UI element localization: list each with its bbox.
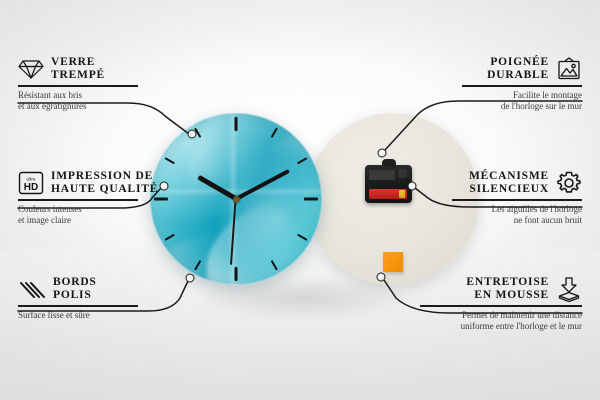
callout-rule	[420, 305, 582, 307]
callout-desc-line2: et aux égratignures	[18, 101, 138, 112]
mechanism-panel	[369, 170, 395, 180]
foam-spacer	[383, 252, 403, 272]
ultra-hd-icon: ultra HD	[18, 171, 44, 195]
callout-title-line2: SILENCIEUX	[469, 183, 549, 196]
leader-dot-left-1	[188, 130, 197, 139]
callout-title-line2: HAUTE QUALITÉ	[51, 183, 158, 196]
infographic-canvas: VERRE TREMPÉ Résistant aux bris et aux é…	[0, 0, 600, 400]
callout-header: MÉCANISME SILENCIEUX	[452, 170, 582, 196]
callout-poignee-durable: POIGNÉE DURABLE Facilite le montage de l…	[462, 56, 582, 112]
callout-rule	[18, 85, 138, 87]
callout-header: ultra HD IMPRESSION DE HAUTE QUALITÉ	[18, 170, 138, 196]
callout-title-line1: IMPRESSION DE	[51, 170, 158, 183]
mechanism-knob	[398, 169, 407, 178]
clock-rim	[150, 113, 322, 285]
leader-dot-right-2	[408, 182, 417, 191]
callout-title-line2: TREMPÉ	[51, 69, 105, 82]
leader-dot-left-2	[160, 182, 169, 191]
callout-header: ENTRETOISE EN MOUSSE	[420, 276, 582, 302]
callout-rule	[18, 305, 138, 307]
callout-header: BORDS POLIS	[18, 276, 138, 302]
polished-edges-icon	[18, 278, 46, 300]
callout-title-line1: BORDS	[53, 276, 97, 289]
callout-rule	[18, 199, 138, 201]
ultra-hd-big-label: HD	[24, 182, 38, 193]
callout-header: POIGNÉE DURABLE	[462, 56, 582, 82]
leader-dot-right-1	[378, 149, 387, 158]
battery-terminal	[399, 190, 405, 198]
callout-desc-line1: Couleurs intenses	[18, 204, 138, 215]
callout-desc-line2: uniforme entre l'horloge et le mur	[420, 321, 582, 332]
battery	[369, 189, 407, 199]
callout-title-line1: POIGNÉE	[487, 56, 549, 69]
callout-rule	[452, 199, 582, 201]
callout-bords-polis: BORDS POLIS Surface lisse et sûre	[18, 276, 138, 321]
callout-desc-line1: Permet de maintenir une distance	[420, 310, 582, 321]
callout-rule	[462, 85, 582, 87]
callout-title-line2: DURABLE	[487, 69, 549, 82]
callout-desc-line1: Facilite le montage	[462, 90, 582, 101]
diamond-icon	[18, 58, 44, 80]
picture-frame-hanger-icon	[556, 57, 582, 81]
callout-title-line2: POLIS	[53, 289, 97, 302]
leader-dot-right-3	[377, 273, 386, 282]
callout-title-line2: EN MOUSSE	[466, 289, 549, 302]
mechanism-hanger-tab	[382, 159, 396, 167]
callout-title-line1: MÉCANISME	[469, 170, 549, 183]
callout-desc-line1: Les aiguilles de l'horloge	[452, 204, 582, 215]
callout-header: VERRE TREMPÉ	[18, 56, 138, 82]
clock-mechanism	[365, 165, 412, 203]
callout-title-line1: ENTRETOISE	[466, 276, 549, 289]
wall-clock-front-glass	[150, 113, 322, 285]
leader-dot-left-3	[186, 274, 195, 283]
callout-desc-line2: et image claire	[18, 215, 138, 226]
foam-spacer-icon	[556, 276, 582, 302]
ultra-hd-small-label: ultra	[27, 177, 36, 182]
callout-mecanisme-silencieux: MÉCANISME SILENCIEUX Les aiguilles de l'…	[452, 170, 582, 226]
callout-impression-haute-qualite: ultra HD IMPRESSION DE HAUTE QUALITÉ Cou…	[18, 170, 138, 226]
callout-entretoise-en-mousse: ENTRETOISE EN MOUSSE Permet de maintenir…	[420, 276, 582, 332]
callout-desc-line2: de l'horloge sur le mur	[462, 101, 582, 112]
callout-desc-line1: Surface lisse et sûre	[18, 310, 138, 321]
callout-desc-line1: Résistant aux bris	[18, 90, 138, 101]
callout-title-line1: VERRE	[51, 56, 105, 69]
callout-verre-trempe: VERRE TREMPÉ Résistant aux bris et aux é…	[18, 56, 138, 112]
callout-desc-line2: ne font aucun bruit	[452, 215, 582, 226]
gear-icon	[556, 170, 582, 196]
